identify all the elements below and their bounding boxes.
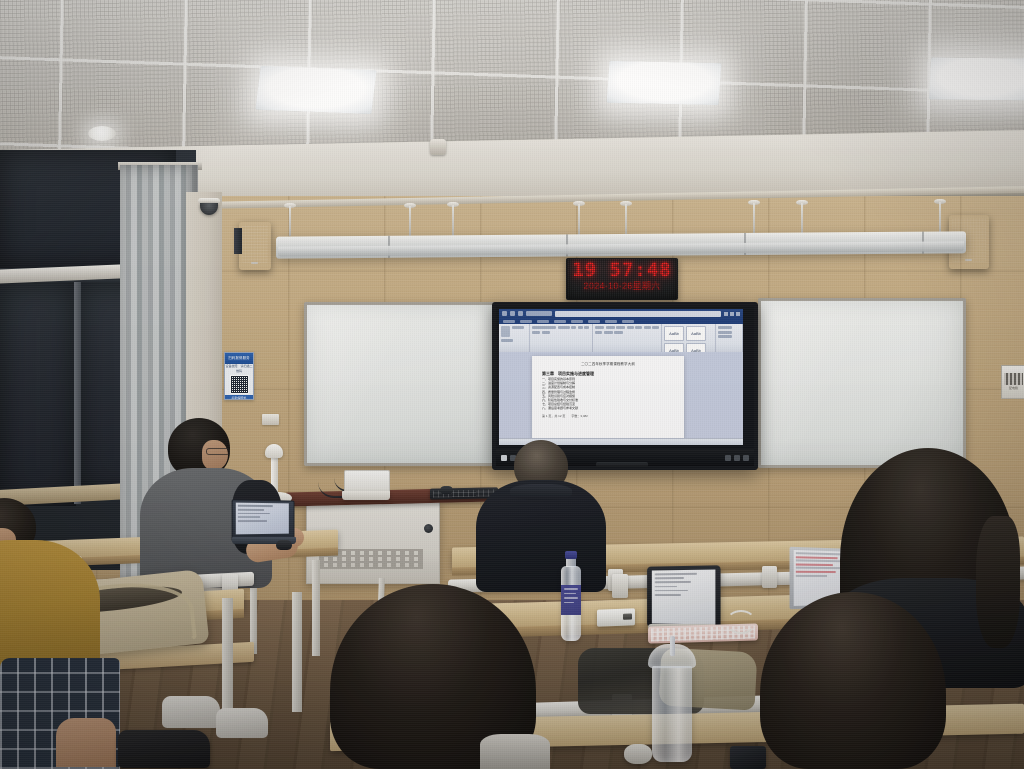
student-left-shoe-2 (216, 708, 268, 738)
teacher-laptop-base[interactable] (342, 491, 390, 500)
qr-poster-subtitle: 设备故障 请扫描二维码 (225, 364, 253, 374)
tab-file[interactable] (503, 320, 515, 323)
lectern-cable-grommet (424, 524, 433, 533)
font-size-box[interactable] (558, 326, 570, 329)
tablet-line-6 (655, 594, 681, 596)
hanging-rod-7 (801, 203, 803, 236)
align-right-icon[interactable] (595, 331, 602, 334)
word-search-box[interactable] (555, 311, 721, 317)
student-foreground-center (330, 584, 546, 769)
tab-design[interactable] (554, 320, 566, 323)
multilevel-icon[interactable] (616, 326, 625, 329)
water-bottle[interactable] (560, 551, 582, 641)
rail-clamp-mid-2 (762, 566, 777, 588)
smoke-detector-icon (430, 139, 446, 155)
ceiling-light-panel-1 (255, 66, 376, 114)
foreground-right-hair (760, 592, 946, 769)
copy-icon[interactable] (501, 339, 513, 342)
cut-icon[interactable] (512, 326, 524, 329)
speaker-led-left (251, 262, 258, 264)
tab-view[interactable] (622, 320, 634, 323)
style-normal[interactable]: AaBb (664, 326, 684, 341)
qr-repair-poster[interactable]: 扫码报修服务 设备故障 请扫描二维码 后勤保障处 (224, 352, 254, 400)
word-title-bar (499, 309, 743, 318)
document-header-text: 二〇二四年秋季学期课程教学大纲 (542, 362, 674, 367)
quick-redo-icon[interactable] (518, 311, 523, 316)
bottle-label-line-4 (564, 602, 574, 604)
bullets-icon[interactable] (595, 326, 604, 329)
indent-increase-icon[interactable] (635, 326, 642, 329)
water-bottle-neck (566, 558, 576, 567)
bottle-label-line-2 (564, 593, 576, 595)
window-controls[interactable] (724, 312, 740, 316)
rail-clamp-front-2 (612, 574, 628, 598)
font-name-box[interactable] (532, 326, 556, 329)
water-bottle-label (561, 585, 581, 615)
drink-cup-body (652, 666, 692, 762)
right-student-hair-strand (976, 516, 1020, 648)
drink-cup-straw (670, 636, 675, 656)
right-laptop-row-4 (796, 563, 833, 566)
select-icon[interactable] (718, 335, 732, 338)
minimize-icon[interactable] (724, 312, 728, 316)
power-bank-port-icon (623, 613, 632, 619)
qr-code-icon (230, 375, 249, 394)
whiteboard-right-sheen (761, 301, 963, 465)
hanging-rod-4 (578, 204, 580, 236)
foreground-left-shoe (118, 730, 210, 768)
style-heading1[interactable]: AaBb (686, 326, 706, 341)
highlight-icon[interactable] (542, 331, 550, 334)
align-left-icon[interactable] (644, 326, 651, 329)
right-laptop-row-7 (796, 574, 827, 576)
qr-poster-header-bar: 扫码报修服务 (225, 353, 253, 364)
tablet-line-5 (655, 590, 688, 592)
breaker-panel-box[interactable]: 配电箱 (1001, 365, 1024, 399)
document-footer-text: 第 1 页，共 12 页 字数：3,482 (542, 414, 674, 418)
water-bottle-cap[interactable] (565, 551, 577, 559)
word-ribbon[interactable]: AaBb AaBb AaBb AaBb (499, 324, 743, 353)
breaker-switch-row (1004, 373, 1023, 385)
tablet-line-3 (655, 581, 691, 583)
display-settings-icon[interactable] (743, 455, 749, 461)
whiteboard-right[interactable] (758, 298, 966, 468)
hanging-rod-3 (452, 205, 454, 236)
document-page[interactable]: 二〇二四年秋季学期课程教学大纲 第三章 项目实施与进度管理 一、项目实施的基本原… (532, 356, 684, 442)
display-home-icon[interactable] (725, 455, 731, 461)
teacher-laptop[interactable] (342, 470, 390, 502)
quick-undo-icon[interactable] (510, 311, 515, 316)
attendee-center-collar (510, 484, 572, 500)
tab-layout[interactable] (571, 320, 583, 323)
document-canvas[interactable]: 二〇二四年秋季学期课程教学大纲 第三章 项目实施与进度管理 一、项目实施的基本原… (499, 352, 743, 445)
qr-poster-header-text: 扫码报修服务 (225, 353, 253, 364)
clock-time: 19 57:48 (567, 260, 677, 281)
tab-insert[interactable] (537, 320, 549, 323)
student-left-laptop-screen[interactable] (236, 503, 289, 535)
hanging-rod-1 (289, 206, 291, 236)
student-foreground-right (760, 592, 970, 769)
white-charging-cable (726, 610, 756, 634)
quick-save-icon[interactable] (502, 311, 507, 316)
tab-home[interactable] (520, 320, 532, 323)
hanging-rod-5 (625, 204, 627, 236)
display-right-icons[interactable] (725, 455, 749, 461)
doc-name-chip (526, 311, 552, 316)
recessed-downlight (88, 126, 116, 141)
qr-poster-footer: 后勤保障处 (225, 395, 253, 400)
leftrow-desk-leg-1 (312, 560, 320, 656)
frontleft-desk-leg-1 (222, 598, 233, 726)
ribbon-group-font[interactable] (530, 324, 593, 352)
document-bullet-8: 八、课后思考题与参考文献 (542, 406, 674, 410)
foreground-center-collar (480, 734, 550, 769)
student-foreground-left (0, 498, 120, 769)
ribbon-group-clipboard[interactable] (499, 324, 530, 352)
font-color-icon[interactable] (532, 331, 540, 334)
find-icon[interactable] (718, 326, 732, 329)
frontleft-desk-leg-2 (292, 592, 302, 712)
window-pane-lower-left (0, 282, 76, 506)
hanging-rod-2 (409, 206, 411, 236)
line-spacing-icon[interactable] (604, 331, 613, 334)
bottle-label-line-1 (564, 588, 578, 590)
align-center-icon[interactable] (652, 326, 659, 329)
shading-icon[interactable] (614, 331, 623, 334)
hanging-rod-6 (753, 203, 755, 236)
window-mullion (74, 282, 81, 504)
breaker-panel-label: 配电箱 (1002, 385, 1024, 391)
bold-icon[interactable] (571, 326, 576, 329)
student-left-glasses-icon (206, 448, 230, 455)
speaker-bracket-left (234, 228, 242, 254)
italic-icon[interactable] (578, 326, 583, 329)
tablet-line-2 (655, 577, 684, 579)
ribbon-group-styles[interactable]: AaBb AaBb AaBb AaBb (662, 324, 716, 352)
bottle-label-line-3 (564, 597, 578, 599)
ceiling-light-panel-3 (929, 57, 1024, 100)
foreground-left-leg (56, 718, 116, 767)
teacher-mouse[interactable] (440, 486, 453, 494)
display-back-icon[interactable] (734, 455, 740, 461)
ribbon-group-editing[interactable] (716, 324, 743, 352)
tablet-line-4 (655, 586, 678, 588)
clock-date: 2024-10-26星期六 (567, 281, 677, 292)
tab-references[interactable] (588, 320, 600, 323)
attendee-center (470, 440, 610, 592)
speaker-grill-left (242, 225, 268, 263)
student-left-face (202, 440, 228, 470)
student-left-mouse[interactable] (276, 540, 292, 550)
whiteboard-left[interactable] (304, 302, 498, 466)
underline-icon[interactable] (584, 326, 589, 329)
speaker-led-right (965, 259, 972, 261)
numbering-icon[interactable] (606, 326, 615, 329)
power-bank[interactable] (597, 608, 635, 626)
tablet-device[interactable] (646, 566, 720, 628)
classroom-photo: 扫码报修服务 设备故障 请扫描二维码 后勤保障处 配电箱 禁止吸烟 19 57:… (0, 0, 1024, 769)
replace-icon[interactable] (718, 331, 732, 334)
indent-decrease-icon[interactable] (627, 326, 634, 329)
wall-speaker-left (239, 222, 271, 270)
tablet-screen[interactable] (652, 569, 716, 624)
round-tin-container[interactable] (624, 744, 652, 764)
paste-icon[interactable] (501, 326, 510, 337)
whiteboard-left-sheen (307, 305, 495, 463)
maximize-icon[interactable] (730, 312, 734, 316)
led-wall-clock: 19 57:48 2024-10-26星期六 (566, 258, 678, 300)
display-screen[interactable]: AaBb AaBb AaBb AaBb 二〇二四年秋季学期课程教学大纲 第三章 … (499, 309, 743, 445)
drink-cup[interactable] (648, 644, 696, 762)
ribbon-group-paragraph[interactable] (593, 324, 662, 352)
close-icon[interactable] (736, 312, 740, 316)
tab-review[interactable] (605, 320, 617, 323)
tablet-line-1 (655, 573, 697, 575)
ceiling-light-panel-2 (607, 61, 722, 105)
student-left-shoe-1 (162, 696, 220, 728)
